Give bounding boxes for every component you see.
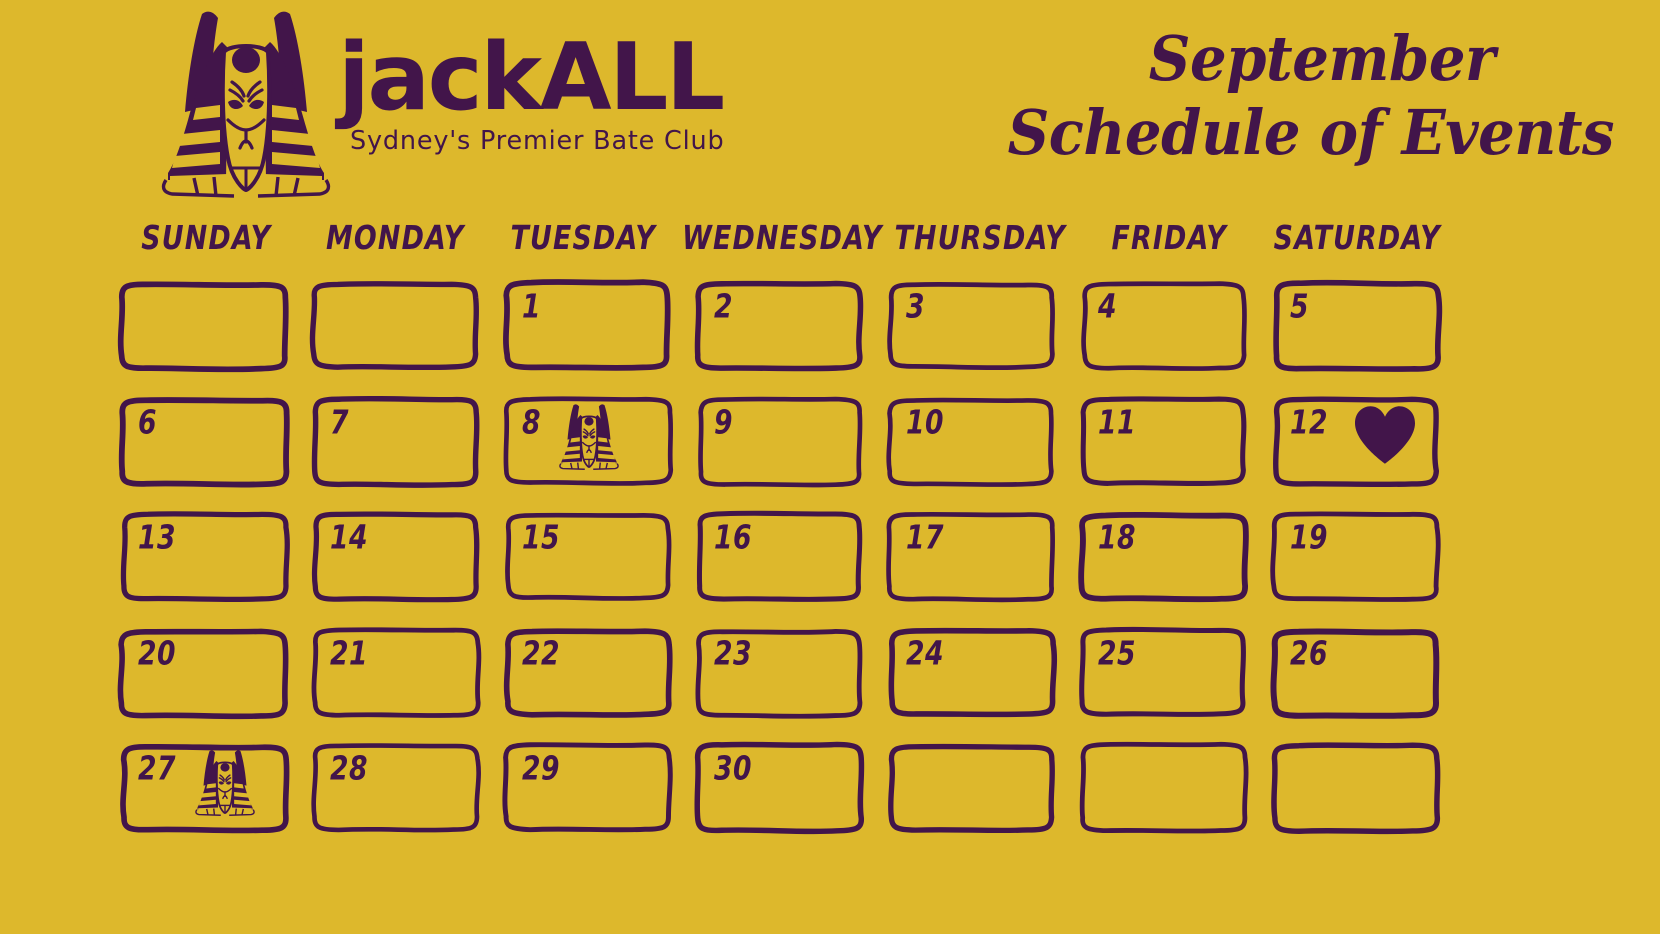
cell-content: 11 — [1078, 396, 1250, 488]
cell-content: 26 — [1270, 627, 1442, 719]
cell-content: 6 — [118, 396, 290, 488]
cell-content: 4 — [1078, 280, 1250, 372]
calendar-day-cell[interactable]: 30 — [688, 734, 880, 850]
day-number: 10 — [906, 407, 944, 439]
day-number: 9 — [714, 407, 733, 439]
cell-content: 25 — [1078, 627, 1250, 719]
cell-content: 3 — [886, 280, 1058, 372]
calendar-day-cell[interactable]: 8 — [496, 388, 688, 504]
brand-text: jackALL Sydney's Premier Bate Club — [338, 26, 718, 196]
cell-content: 5 — [1270, 280, 1442, 372]
cell-content: 1 — [502, 280, 674, 372]
calendar-day-cell[interactable]: 25 — [1072, 619, 1264, 735]
calendar-day-cell[interactable]: 27 — [112, 734, 304, 850]
cell-content: 20 — [118, 627, 290, 719]
day-number: 12 — [1290, 407, 1328, 439]
weekday-header-saturday: SATURDAY — [1267, 208, 1448, 267]
calendar-day-cell[interactable]: 1 — [496, 272, 688, 388]
calendar-empty-cell[interactable] — [880, 734, 1072, 850]
day-number: 11 — [1098, 407, 1136, 439]
anubis-head-icon — [194, 749, 256, 816]
brand-lockup: jackALL Sydney's Premier Bate Club — [158, 8, 718, 198]
weekday-header-sunday: SUNDAY — [116, 208, 297, 267]
cell-content: 29 — [502, 742, 674, 834]
day-number: 27 — [138, 753, 176, 785]
day-number: 14 — [330, 522, 368, 554]
calendar-empty-cell[interactable] — [304, 272, 496, 388]
calendar-day-cell[interactable]: 18 — [1072, 503, 1264, 619]
calendar-day-cell[interactable]: 21 — [304, 619, 496, 735]
day-number: 8 — [522, 407, 541, 439]
calendar-day-cell[interactable]: 7 — [304, 388, 496, 504]
calendar-empty-cell[interactable] — [1264, 734, 1456, 850]
cell-content: 2 — [694, 280, 866, 372]
day-number: 26 — [1290, 638, 1328, 670]
calendar-day-cell[interactable]: 9 — [688, 388, 880, 504]
cell-content — [886, 742, 1058, 834]
day-number: 28 — [330, 753, 368, 785]
day-number: 4 — [1098, 291, 1117, 323]
cell-content: 16 — [694, 511, 866, 603]
calendar-day-cell[interactable]: 13 — [112, 503, 304, 619]
day-number: 17 — [906, 522, 944, 554]
cell-content: 23 — [694, 627, 866, 719]
day-number: 16 — [714, 522, 752, 554]
cell-content: 15 — [502, 511, 674, 603]
calendar-day-cell[interactable]: 26 — [1264, 619, 1456, 735]
weekday-header-row: SUNDAY MONDAY TUESDAY WEDNESDAY THURSDAY… — [112, 212, 1452, 262]
cell-content: 10 — [886, 396, 1058, 488]
day-number: 18 — [1098, 522, 1136, 554]
day-number: 21 — [330, 638, 368, 670]
calendar-day-cell[interactable]: 20 — [112, 619, 304, 735]
day-number: 19 — [1290, 522, 1328, 554]
calendar-day-cell[interactable]: 14 — [304, 503, 496, 619]
cell-content: 27 — [118, 742, 290, 834]
day-number: 7 — [330, 407, 349, 439]
cell-content: 9 — [694, 396, 866, 488]
cell-content: 14 — [310, 511, 482, 603]
cell-content — [310, 280, 482, 372]
cell-content: 21 — [310, 627, 482, 719]
cell-content — [1078, 742, 1250, 834]
anubis-head-icon — [558, 403, 620, 470]
cell-content — [1270, 742, 1442, 834]
cell-content: 18 — [1078, 511, 1250, 603]
weekday-header-wednesday: WEDNESDAY — [682, 208, 882, 267]
brand-tagline: Sydney's Premier Bate Club — [350, 126, 718, 156]
title-line-month: September — [926, 22, 1614, 96]
cell-content: 13 — [118, 511, 290, 603]
day-number: 30 — [714, 753, 752, 785]
calendar-day-cell[interactable]: 10 — [880, 388, 1072, 504]
day-number: 5 — [1290, 291, 1309, 323]
day-number: 1 — [522, 291, 541, 323]
cell-content — [118, 280, 290, 372]
calendar-day-cell[interactable]: 5 — [1264, 272, 1456, 388]
cell-content: 17 — [886, 511, 1058, 603]
calendar-day-cell[interactable]: 12 — [1264, 388, 1456, 504]
day-number: 6 — [138, 407, 157, 439]
calendar-day-cell[interactable]: 28 — [304, 734, 496, 850]
calendar-day-cell[interactable]: 4 — [1072, 272, 1264, 388]
weekday-header-tuesday: TUESDAY — [493, 208, 674, 267]
anubis-head-icon — [158, 8, 334, 198]
day-number: 25 — [1098, 638, 1136, 670]
weekday-header-thursday: THURSDAY — [890, 208, 1071, 267]
day-number: 2 — [714, 291, 733, 323]
poster-header: jackALL Sydney's Premier Bate Club Septe… — [0, 0, 1660, 205]
calendar-empty-cell[interactable] — [112, 272, 304, 388]
day-number: 23 — [714, 638, 752, 670]
cell-content: 30 — [694, 742, 866, 834]
cell-content: 19 — [1270, 511, 1442, 603]
calendar-day-cell[interactable]: 16 — [688, 503, 880, 619]
calendar-day-cell[interactable]: 3 — [880, 272, 1072, 388]
cell-content: 12 — [1270, 396, 1442, 488]
calendar-day-cell[interactable]: 29 — [496, 734, 688, 850]
calendar-day-cell[interactable]: 19 — [1264, 503, 1456, 619]
day-number: 22 — [522, 638, 560, 670]
calendar-poster: jackALL Sydney's Premier Bate Club Septe… — [0, 0, 1660, 934]
calendar-day-cell[interactable]: 22 — [496, 619, 688, 735]
calendar-day-cell[interactable]: 15 — [496, 503, 688, 619]
cell-content: 28 — [310, 742, 482, 834]
brand-wordmark: jackALL — [338, 26, 718, 128]
calendar-day-cell[interactable]: 11 — [1072, 388, 1264, 504]
day-number: 29 — [522, 753, 560, 785]
calendar-day-cell[interactable]: 23 — [688, 619, 880, 735]
poster-title: September Schedule of Events — [874, 22, 1614, 170]
calendar-day-cell[interactable]: 17 — [880, 503, 1072, 619]
calendar-day-cell[interactable]: 6 — [112, 388, 304, 504]
weekday-header-monday: MONDAY — [304, 208, 485, 267]
cell-content: 8 — [502, 396, 674, 488]
day-number: 15 — [522, 522, 560, 554]
calendar-day-cell[interactable]: 24 — [880, 619, 1072, 735]
heart-icon — [1352, 405, 1418, 465]
calendar-empty-cell[interactable] — [1072, 734, 1264, 850]
calendar-grid: 1234567891011121314151617181920212223242… — [112, 272, 1456, 850]
day-number: 24 — [906, 638, 944, 670]
day-number: 20 — [138, 638, 176, 670]
day-number: 3 — [906, 291, 925, 323]
title-line-subtitle: Schedule of Events — [926, 96, 1614, 170]
cell-content: 24 — [886, 627, 1058, 719]
cell-content: 7 — [310, 396, 482, 488]
cell-content: 22 — [502, 627, 674, 719]
weekday-header-friday: FRIDAY — [1079, 208, 1260, 267]
day-number: 13 — [138, 522, 176, 554]
calendar-day-cell[interactable]: 2 — [688, 272, 880, 388]
